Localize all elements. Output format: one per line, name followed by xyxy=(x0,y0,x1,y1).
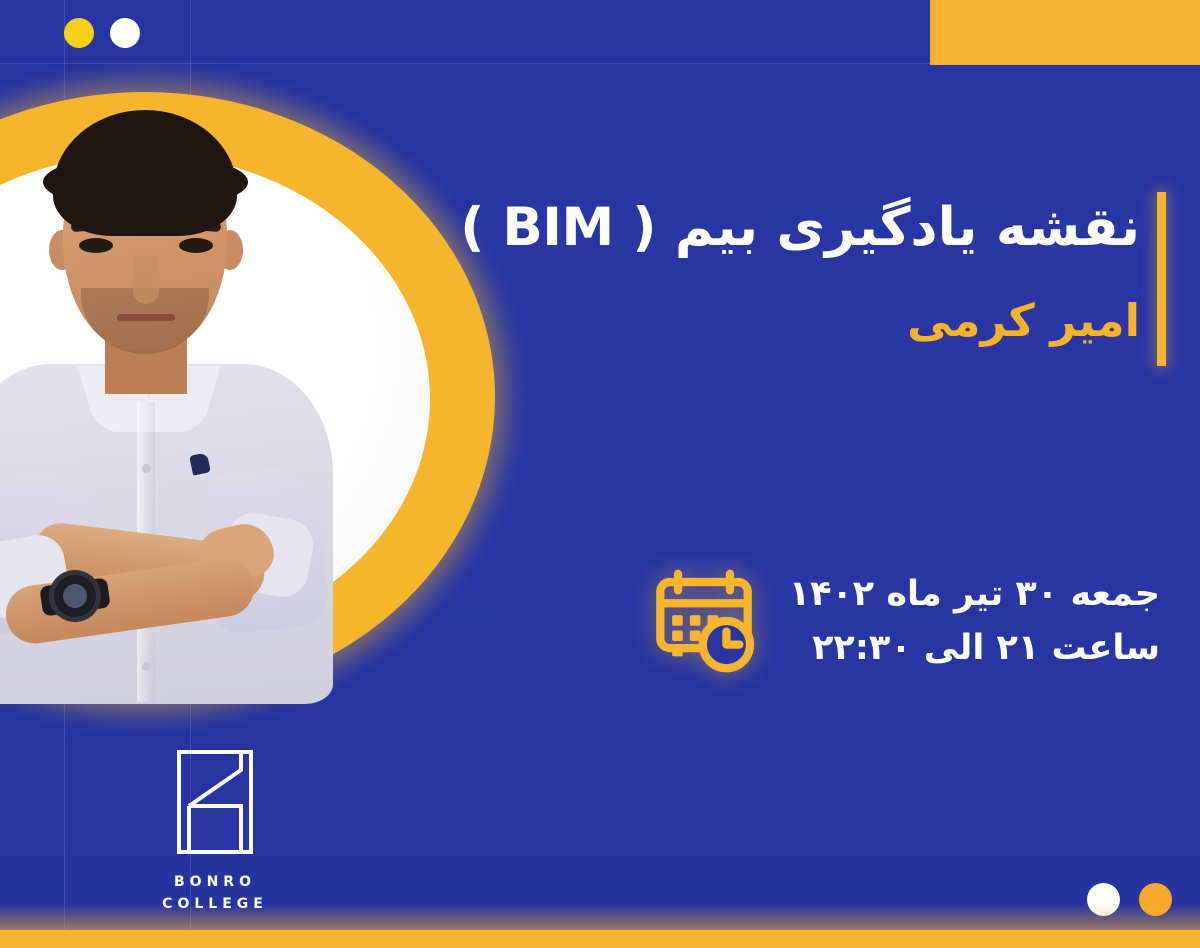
calendar-clock-icon xyxy=(645,562,763,680)
brand-logo: BONRO COLLEGE xyxy=(140,748,290,915)
bottom-band-glow xyxy=(0,904,1200,930)
instructor-portrait xyxy=(0,92,495,702)
brand-name-line1: BONRO xyxy=(140,872,290,894)
headline-accent-bar xyxy=(1157,192,1166,366)
event-poster: نقشه یادگیری بیم ( BIM ) امیر کرمی جمعه … xyxy=(0,0,1200,948)
decor-dot-white-top-left xyxy=(110,18,140,48)
instructor-name: امیر کرمی xyxy=(460,295,1140,347)
bottom-accent-band xyxy=(0,930,1200,948)
top-right-accent-block xyxy=(930,0,1200,65)
decor-dot-yellow-top-left xyxy=(64,18,94,48)
event-time: ساعت ۲۱ الی ۲۲:۳۰ xyxy=(789,621,1160,675)
event-date: جمعه ۳۰ تیر ماه ۱۴۰۲ xyxy=(789,567,1160,621)
page-title: نقشه یادگیری بیم ( BIM ) xyxy=(460,196,1140,261)
portrait-figure xyxy=(0,102,345,702)
bonro-logo-mark xyxy=(175,748,255,856)
schedule-block: جمعه ۳۰ تیر ماه ۱۴۰۲ ساعت ۲۱ الی ۲۲:۳۰ xyxy=(645,562,1160,680)
schedule-text: جمعه ۳۰ تیر ماه ۱۴۰۲ ساعت ۲۱ الی ۲۲:۳۰ xyxy=(789,567,1160,676)
headline-block: نقشه یادگیری بیم ( BIM ) امیر کرمی xyxy=(460,196,1140,346)
